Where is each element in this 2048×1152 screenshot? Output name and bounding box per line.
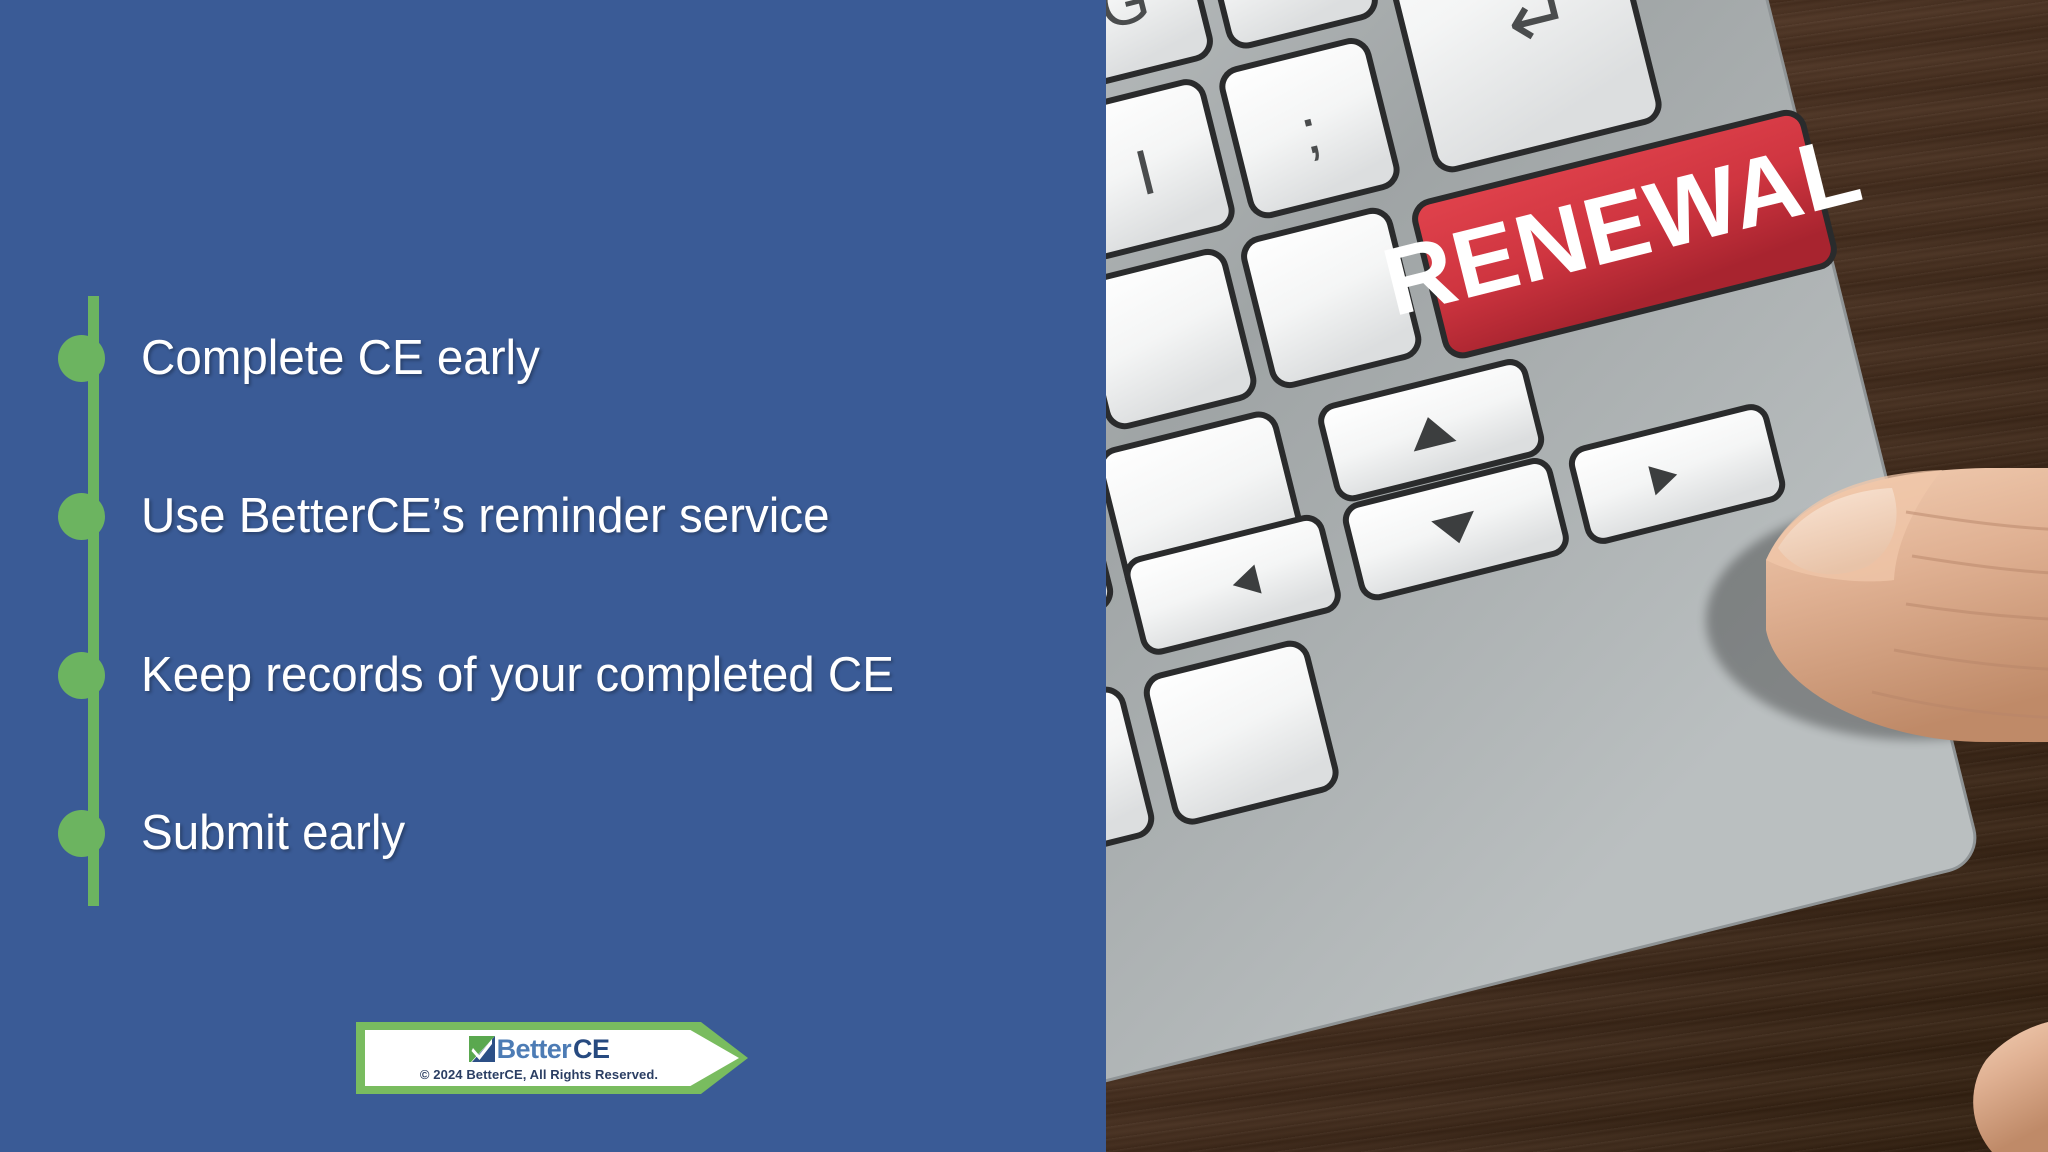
copyright-text: © 2024 BetterCE, All Rights Reserved. [420, 1067, 658, 1082]
list-item-label: Submit early [141, 809, 405, 858]
brand-name-primary: Better [497, 1036, 571, 1063]
list-item: Complete CE early [70, 334, 552, 382]
timeline-dot-icon [58, 335, 105, 382]
list-item: Use BetterCE’s reminder service [70, 492, 851, 540]
timeline-dot-icon [58, 810, 105, 857]
check-square-icon [469, 1036, 495, 1062]
keyboard-illustration: H — ← G U ↵ S I ; RENEWAL [1106, 0, 2048, 1152]
timeline-dot-icon [58, 652, 105, 699]
brand-logo: BetterCE [469, 1034, 610, 1064]
brand-name-secondary: CE [573, 1036, 609, 1063]
timeline-dot-icon [58, 493, 105, 540]
list-item-label: Keep records of your completed CE [141, 651, 894, 700]
list-item-label: Complete CE early [141, 334, 540, 383]
bullet-list: Complete CE early Use BetterCE’s reminde… [0, 0, 1106, 1152]
keyboard-photo: H — ← G U ↵ S I ; RENEWAL [1106, 0, 2048, 1152]
list-item-label: Use BetterCE’s reminder service [141, 492, 830, 541]
list-item: Submit early [70, 809, 413, 857]
brand-badge: BetterCE © 2024 BetterCE, All Rights Res… [356, 1022, 748, 1094]
badge-inner: BetterCE © 2024 BetterCE, All Rights Res… [365, 1030, 739, 1086]
list-item: Keep records of your completed CE [70, 651, 917, 699]
slide-root: H — ← G U ↵ S I ; RENEWAL [0, 0, 2048, 1152]
